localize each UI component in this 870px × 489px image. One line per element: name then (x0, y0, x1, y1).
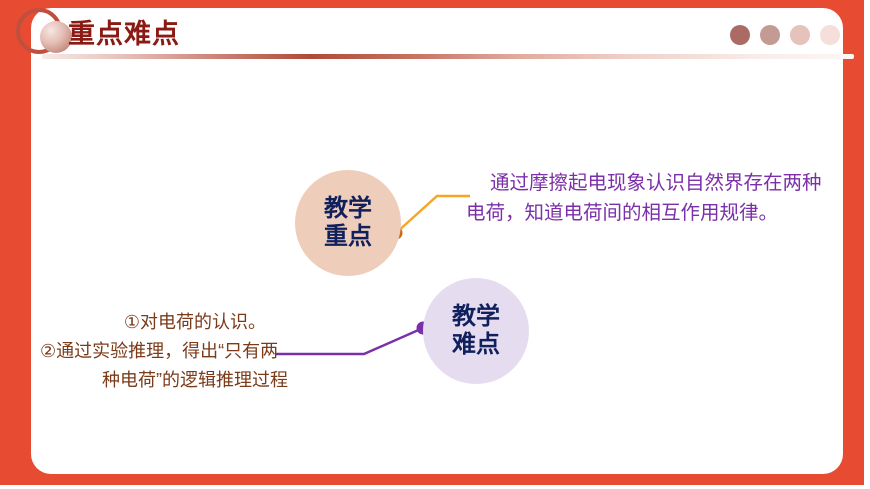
node-teaching-difficulty-line1: 教学 (452, 303, 500, 331)
connector-lines (0, 0, 870, 489)
difficulty-description-line-2: ②通过实验推理，得出“只有两 (40, 337, 350, 366)
slide: 重点难点 教学 重点 教学 难点 通过摩擦起电现象认识自然界存在两种电荷，知道电 (0, 0, 870, 489)
node-teaching-difficulty[interactable]: 教学 难点 (423, 278, 529, 384)
teaching-focus-description: 通过摩擦起电现象认识自然界存在两种电荷，知道电荷间的相互作用规律。 (466, 168, 826, 228)
focus-connector-line (396, 196, 470, 233)
difficulty-description-line-3: 种电荷”的逻辑推理过程 (40, 366, 350, 395)
node-teaching-focus-line2: 重点 (324, 223, 372, 251)
teaching-difficulty-description: ①对电荷的认识。 ②通过实验推理，得出“只有两 种电荷”的逻辑推理过程 (40, 308, 350, 395)
node-teaching-difficulty-line2: 难点 (452, 331, 500, 359)
node-teaching-focus[interactable]: 教学 重点 (295, 170, 401, 276)
slide-content: 教学 重点 教学 难点 通过摩擦起电现象认识自然界存在两种电荷，知道电荷间的相互… (0, 0, 870, 489)
difficulty-description-line-1: ①对电荷的认识。 (40, 308, 350, 337)
node-teaching-focus-line1: 教学 (324, 195, 372, 223)
